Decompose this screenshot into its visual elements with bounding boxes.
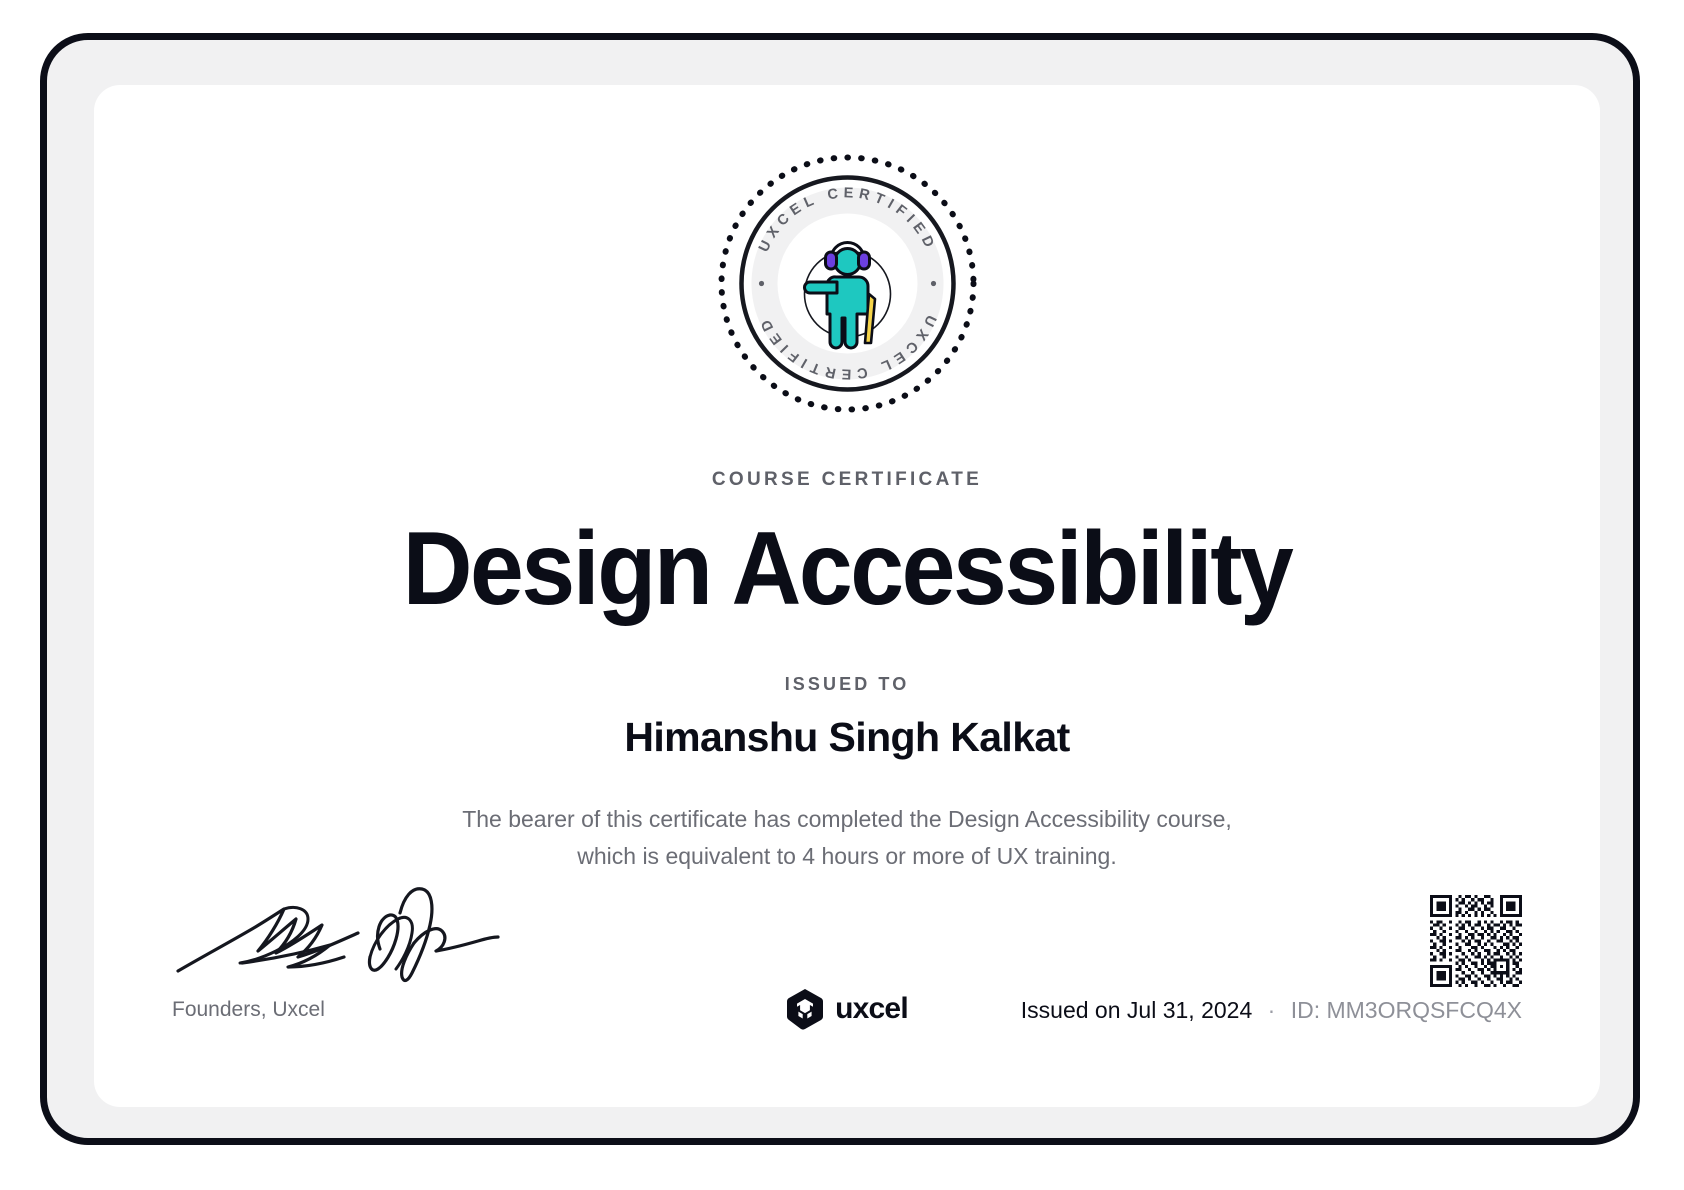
certificate-id: ID: MM3ORQSFCQ4X xyxy=(1291,997,1522,1023)
brand-name: uxcel xyxy=(835,992,908,1026)
eyebrow-label: COURSE CERTIFICATE xyxy=(94,469,1600,491)
certificate-title: Design Accessibility xyxy=(147,514,1548,624)
recipient-name: Himanshu Singh Kalkat xyxy=(94,714,1600,761)
issued-on-text: Issued on Jul 31, 2024 xyxy=(1021,997,1252,1023)
uxcel-hexagon-logo-icon xyxy=(786,988,824,1030)
certificate-card: UXCEL CERTIFIED UXCEL CERTIFIED xyxy=(94,85,1600,1107)
issue-meta: Issued on Jul 31, 2024 · ID: MM3ORQSFCQ4… xyxy=(1021,997,1522,1024)
qr-code-icon[interactable] xyxy=(1430,895,1522,987)
badge-container: UXCEL CERTIFIED UXCEL CERTIFIED xyxy=(94,151,1600,416)
description-line-1: The bearer of this certificate has compl… xyxy=(94,801,1600,838)
handwritten-signatures-icon xyxy=(172,885,502,995)
issued-to-label: ISSUED TO xyxy=(94,674,1600,695)
description-line-2: which is equivalent to 4 hours or more o… xyxy=(94,838,1600,875)
meta-separator: · xyxy=(1259,997,1285,1023)
certificate-frame: UXCEL CERTIFIED UXCEL CERTIFIED xyxy=(40,33,1640,1145)
certificate-description: The bearer of this certificate has compl… xyxy=(94,801,1600,875)
uxcel-certified-seal-icon: UXCEL CERTIFIED UXCEL CERTIFIED xyxy=(715,151,980,416)
